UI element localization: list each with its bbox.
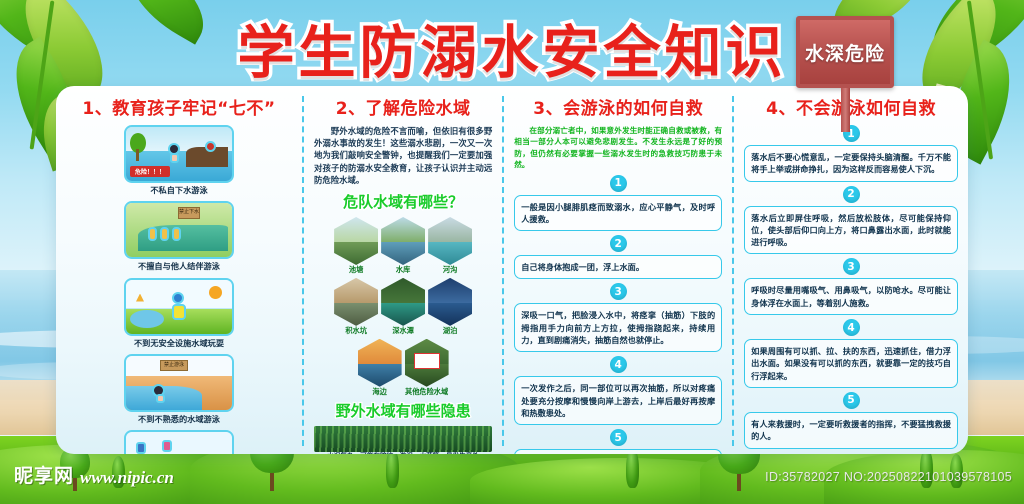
step-text-4-4: 如果周围有可以抓、拉、扶的东西，迅速抓住，借力浮出水面。如果没有可以抓的东西，就… [744, 339, 958, 388]
water-type-photo-other [405, 339, 449, 387]
warning-sign-board: 水深危险 [796, 16, 894, 88]
water-type-label-4: 积水坑 [334, 327, 378, 335]
water-type-2: 水库 [381, 217, 425, 274]
water-type-label-5: 深水潭 [381, 327, 425, 335]
section-2-subtitle-2: 野外水域有哪些隐患 [314, 400, 492, 421]
water-type-photo-lake [428, 278, 472, 326]
hazard-photo-1 [314, 426, 492, 452]
water-type-photo-pond [334, 217, 378, 265]
water-type-photo-seaside [358, 339, 402, 387]
step-text-4-2: 落水后立即屏住呼吸，然后放松肢体，尽可能保持仰位，使头部后仰口向上方，将口鼻露出… [744, 206, 958, 255]
seven-no-caption-2: 不擅自与他人结伴游泳 [124, 261, 234, 271]
seven-no-item-1: 危险！！！ 不私自下水游泳 [124, 125, 234, 195]
illustration-1-banner: 危险！！！ [130, 166, 170, 177]
section-2: 2、了解危险水域 野外水域的危险不言而喻，但依旧有很多野外溺水事故的发生！这些溺… [304, 86, 502, 454]
water-types-grid: 池塘 水库 河沟 [314, 217, 492, 396]
illustration-no-adult: 游泳时需有大人陪护 [124, 430, 234, 454]
illustration-unknown-water: 禁止游泳 [124, 354, 234, 412]
water-type-photo-deep-pool [381, 278, 425, 326]
illustration-group-swim: 禁止下水 [124, 201, 234, 259]
water-type-7: 海边 [358, 339, 402, 396]
water-type-label-7: 海边 [358, 388, 402, 396]
water-type-6: 湖泊 [428, 278, 472, 335]
illustration-4-sign: 禁止游泳 [160, 360, 188, 371]
seven-no-item-4: 禁止游泳 不到不熟悉的水域游泳 [124, 354, 234, 424]
watermark-url: www.nipic.cn [80, 468, 174, 488]
step-text-3-3: 深吸一口气，把脸浸入水中，将痉挛（抽筋）下肢的拇指用手力向前方上方拉，使拇指跷起… [514, 303, 722, 352]
section-1-title: 1、教育孩子牢记“七不” [66, 94, 292, 119]
step-number-4-3: 3 [843, 258, 860, 275]
step-number-3-4: 4 [610, 356, 627, 373]
water-type-photo-pit [334, 278, 378, 326]
seven-no-item-3: 不到无安全设施水域玩耍 [124, 278, 234, 348]
water-type-4: 积水坑 [334, 278, 378, 335]
step-text-3-2: 自己将身体抱成一团，浮上水面。 [514, 255, 722, 279]
cypress-1 [386, 448, 399, 488]
poster-root: 学生防溺水安全知识 水深危险 1、教育孩子牢记“七不” [0, 0, 1024, 504]
warning-sign: 水深危险 [796, 16, 894, 132]
step-text-3-4: 一次发作之后，同一部位可以再次抽筋，所以对疼痛处要充分按摩和慢慢向岸上游去，上岸… [514, 376, 722, 425]
seven-no-caption-4: 不到不熟悉的水域游泳 [124, 414, 234, 424]
water-type-photo-reservoir [381, 217, 425, 265]
illustration-2-sign: 禁止下水 [178, 207, 200, 219]
water-type-8: 其他危险水域 [405, 339, 449, 396]
step-number-4-2: 2 [843, 186, 860, 203]
step-number-3-2: 2 [610, 235, 627, 252]
watermark-left: 昵享网 www.nipic.cn [14, 461, 174, 488]
step-number-3-5: 5 [610, 429, 627, 446]
water-type-label-1: 池塘 [334, 266, 378, 274]
cypress-2 [626, 448, 639, 488]
water-type-5: 深水潭 [381, 278, 425, 335]
step-text-4-5: 有人来救援时，一定要听救援者的指挥，不要猛拽救援的人。 [744, 412, 958, 449]
water-type-label-8: 其他危险水域 [405, 388, 449, 396]
section-2-subtitle-1: 危队水域有哪些？ [314, 191, 492, 212]
hazard-caption-1: 水况复杂，可能有暗坑、漩涡、水草等，易发生意外 [314, 453, 492, 454]
water-type-3: 河沟 [428, 217, 472, 274]
watermark-id: ID:35782027 NO:20250822101039578105 [765, 470, 1012, 484]
water-type-photo-ditch [428, 217, 472, 265]
section-3-title: 3、会游泳的如何自救 [514, 94, 722, 119]
warning-sign-text: 水深危险 [805, 39, 885, 66]
step-number-4-5: 5 [843, 392, 860, 409]
hazards-list: 水况复杂，可能有暗坑、漩涡、水草等，易发生意外 水温不定，如突受冷水刺激，容易抽… [314, 426, 492, 454]
water-type-label-6: 湖泊 [428, 327, 472, 335]
seven-no-item-2: 禁止下水 不擅自与他人结伴游泳 [124, 201, 234, 271]
section-1: 1、教育孩子牢记“七不” 危险！！！ 不私自下水游泳 [56, 86, 302, 454]
section-1-grid: 危险！！！ 不私自下水游泳 禁止下水 不擅自与他人结伴游泳 [66, 125, 292, 454]
section-4: 4、不会游泳如何自救 1 落水后不要心慌意乱，一定要保持头脑清醒。千万不能将手上… [734, 86, 968, 454]
section-2-title: 2、了解危险水域 [314, 94, 492, 119]
water-type-1: 池塘 [334, 217, 378, 274]
seven-no-caption-3: 不到无安全设施水域玩耍 [124, 338, 234, 348]
section-3: 3、会游泳的如何自救 在部分溺亡者中，如果意外发生时能正确自救或被救，有相当一部… [504, 86, 732, 454]
section-2-body: 野外水域的危险不言而喻，但依旧有很多野外溺水事故的发生！这些溺水悲剧，一次又一次… [314, 125, 492, 186]
step-text-3-5: 如果手腕肌肉抽筋，自己可将手指上下屈伸并采取仰面位，以两足游泳。 [514, 449, 722, 454]
hazard-item-1: 水况复杂，可能有暗坑、漩涡、水草等，易发生意外 [314, 426, 492, 454]
step-number-3-3: 3 [610, 283, 627, 300]
step-number-4-4: 4 [843, 319, 860, 336]
seven-no-item-5: 游泳时需有大人陪护 不在无家长或教师带领的情况下游泳 [124, 430, 234, 454]
watermark-site-name: 昵享网 [14, 461, 74, 488]
page-title: 学生防溺水安全知识 [238, 7, 787, 89]
illustration-no-facility [124, 278, 234, 336]
illustration-swim-alone: 危险！！！ [124, 125, 234, 183]
warning-sign-post [841, 88, 850, 132]
section-3-intro: 在部分溺亡者中，如果意外发生时能正确自救或被救，有相当一部分人本可以避免悲剧发生… [514, 125, 722, 171]
water-type-label-2: 水库 [381, 266, 425, 274]
water-type-label-3: 河沟 [428, 266, 472, 274]
step-text-3-1: 一般是因小腿腓肌痉而致溺水，应心平静气，及时呼人援救。 [514, 195, 722, 232]
step-number-3-1: 1 [610, 175, 627, 192]
step-text-4-3: 呼吸时尽量用嘴吸气、用鼻吸气，以防呛水。尽可能让身体浮在水面上，等着别人施救。 [744, 278, 958, 315]
seven-no-caption-1: 不私自下水游泳 [124, 185, 234, 195]
step-text-4-1: 落水后不要心慌意乱，一定要保持头脑清醒。千万不能将手上举或拼命挣扎，因为这样反而… [744, 145, 958, 182]
content-panel: 1、教育孩子牢记“七不” 危险！！！ 不私自下水游泳 [56, 86, 968, 454]
